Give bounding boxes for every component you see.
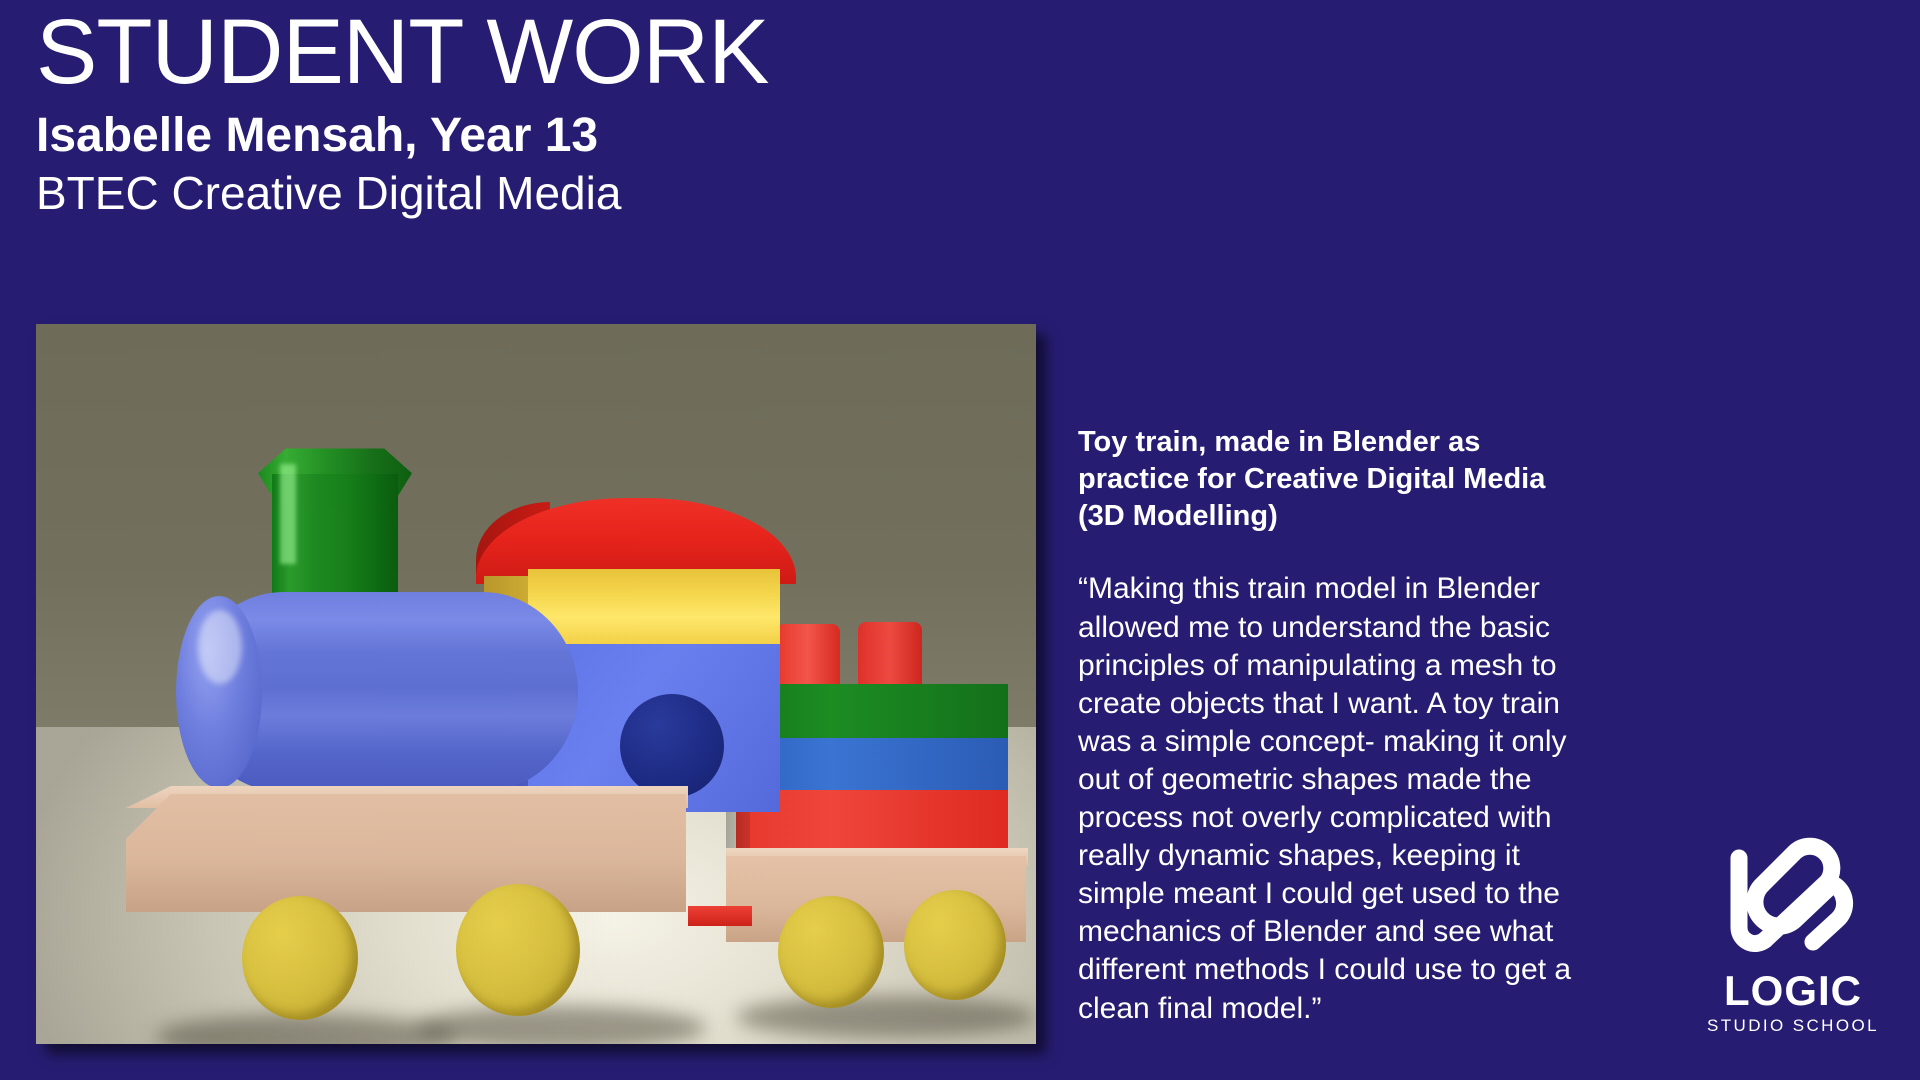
loco-chassis (126, 794, 686, 912)
wagon-wheel-rear (904, 890, 1006, 1000)
page-title: STUDENT WORK (36, 6, 1136, 100)
logo-wordmark: LOGIC (1700, 970, 1886, 1012)
coupler (688, 906, 752, 926)
logic-studio-school-logo: LOGIC STUDIO SCHOOL (1700, 836, 1886, 1034)
wagon-wheel-front (778, 896, 884, 1008)
boiler-highlight (198, 610, 242, 684)
render-stage (36, 324, 1036, 1044)
cab-window (620, 694, 724, 798)
loco-wheel-rear (456, 884, 580, 1016)
loco-wheel-front (242, 896, 358, 1020)
logo-subtitle: STUDIO SCHOOL (1700, 1017, 1886, 1034)
description-column: Toy train, made in Blender as practice f… (1078, 424, 1598, 1028)
student-name: Isabelle Mensah, Year 13 (36, 108, 1136, 165)
student-work-slide: STUDENT WORK Isabelle Mensah, Year 13 BT… (0, 0, 1920, 1080)
cab-upper (528, 569, 780, 647)
logic-loop-monogram-icon (1717, 836, 1869, 964)
wagon-shadow (736, 996, 1036, 1038)
course-name: BTEC Creative Digital Media (36, 166, 1136, 220)
chimney-highlight (280, 464, 296, 564)
wagon-stud-left (776, 624, 840, 688)
header-block: STUDENT WORK Isabelle Mensah, Year 13 BT… (36, 6, 1136, 221)
student-quote: “Making this train model in Blender allo… (1078, 570, 1598, 1027)
wagon-stud-right (858, 622, 922, 688)
artwork-image (36, 324, 1036, 1044)
loco-rear-shadow (416, 1006, 706, 1044)
artwork-caption: Toy train, made in Blender as practice f… (1078, 424, 1598, 534)
